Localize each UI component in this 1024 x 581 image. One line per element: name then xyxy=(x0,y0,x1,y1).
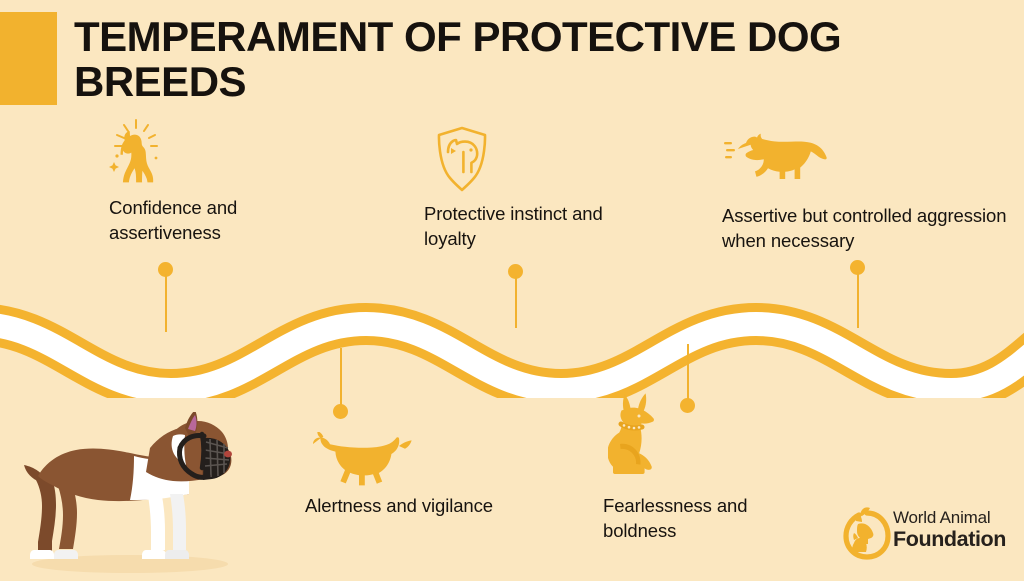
item-alertness[interactable]: Alertness and vigilance xyxy=(303,432,513,552)
connector-dot xyxy=(333,404,348,419)
infographic-canvas: Temperament of Protective Dog Breeds xyxy=(0,0,1024,576)
item-assertive-aggression[interactable]: Assertive but controlled aggression when… xyxy=(722,130,1012,285)
logo-line-1: World Animal xyxy=(893,508,1006,528)
connector-stem xyxy=(340,348,342,410)
connector-confidence xyxy=(158,262,173,332)
connector-stem xyxy=(515,276,517,328)
logo[interactable]: World Animal Foundation xyxy=(843,505,1018,567)
sitting-doberman-with-collar-icon xyxy=(608,388,680,488)
item-label: Confidence and assertiveness xyxy=(109,196,315,245)
connector-alertness xyxy=(333,348,348,420)
item-label: Protective instinct and loyalty xyxy=(424,202,646,251)
title-accent-block xyxy=(0,12,57,105)
shield-with-dog-head-icon xyxy=(429,124,495,196)
circular-animal-logo-mark xyxy=(843,507,891,561)
item-label: Fearlessness and boldness xyxy=(603,494,803,543)
muzzled-pit-bull-illustration xyxy=(22,412,237,576)
item-fearlessness[interactable]: Fearlessness and boldness xyxy=(603,388,818,548)
page-title: Temperament of Protective Dog Breeds xyxy=(74,14,904,105)
logo-wordmark: World Animal Foundation xyxy=(893,508,1006,551)
logo-line-2: Foundation xyxy=(893,528,1006,552)
sitting-dog-with-shine-icon xyxy=(108,118,178,190)
item-label: Assertive but controlled aggression when… xyxy=(722,204,1008,253)
connector-protective-instinct xyxy=(508,264,523,328)
connector-stem xyxy=(165,274,167,332)
item-protective-instinct[interactable]: Protective instinct and loyalty xyxy=(424,124,654,259)
pointing-dog-icon xyxy=(311,432,421,490)
barking-lunging-dog-icon xyxy=(724,130,844,186)
item-label: Alertness and vigilance xyxy=(305,494,505,519)
item-confidence[interactable]: Confidence and assertiveness xyxy=(108,118,323,258)
